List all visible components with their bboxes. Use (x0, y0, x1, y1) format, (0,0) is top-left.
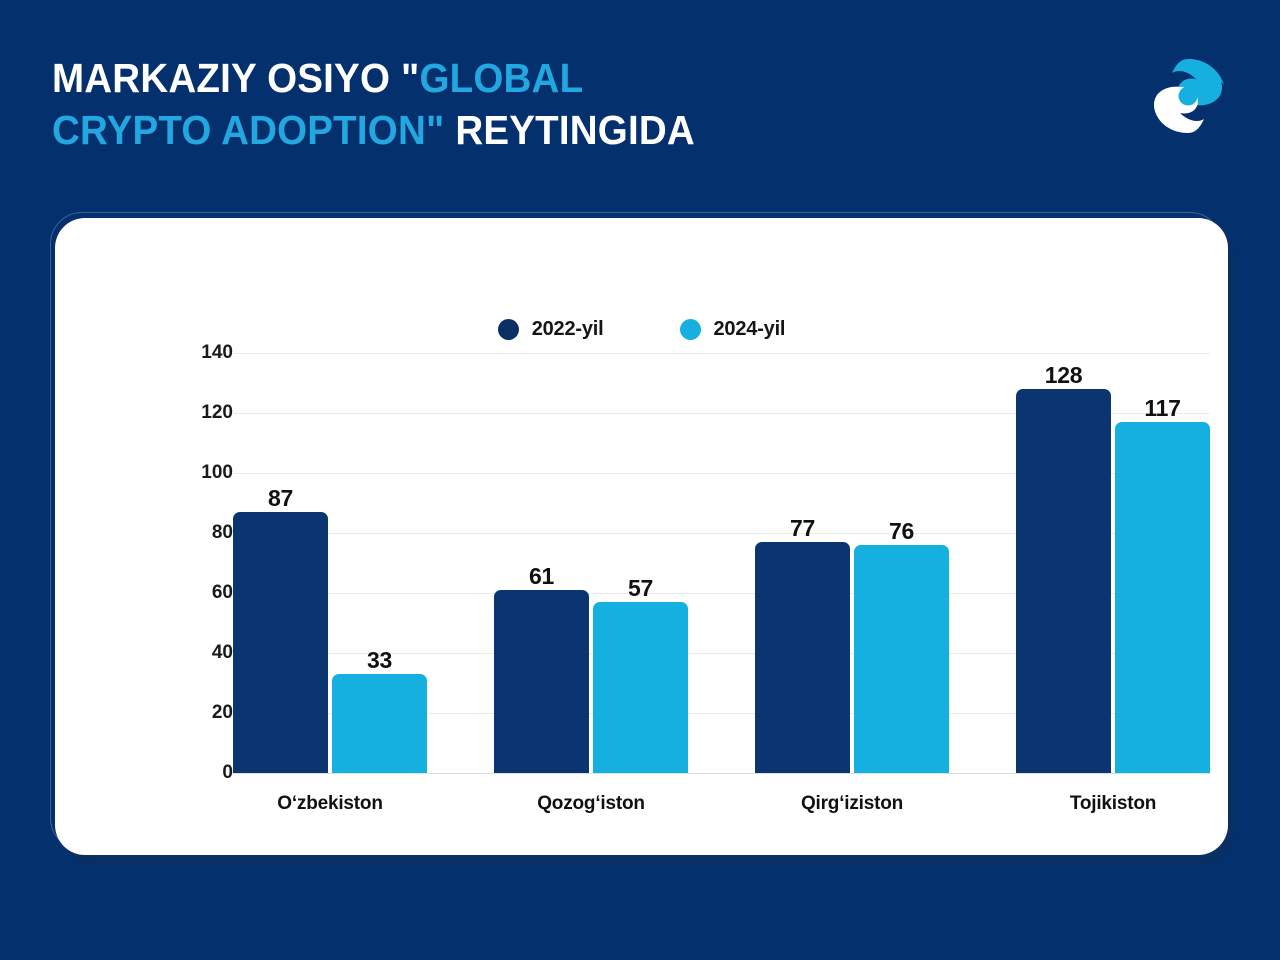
infographic-canvas: MARKAZIY OSIYO "GLOBAL CRYPTO ADOPTION" … (0, 0, 1280, 960)
eye-swirl-logo-icon (1148, 55, 1228, 137)
bar-group-uzbekistan: 87 33 (233, 353, 427, 773)
legend-label-2022: 2022-yil (532, 318, 604, 341)
legend-item-2024[interactable]: 2024-yil (680, 318, 786, 341)
bar-rect (1016, 389, 1111, 773)
page-title-line-2: CRYPTO ADOPTION" REYTINGIDA (52, 104, 898, 156)
bar-value-77: 77 (755, 515, 850, 542)
x-axis-labels: Oʻzbekiston Qozogʻiston Qirgʻiziston Toj… (233, 773, 1210, 815)
bar-value-117: 117 (1115, 395, 1210, 422)
chart-legend: 2022-yil 2024-yil (55, 318, 1228, 341)
x-label-kazakhstan: Qozogʻiston (494, 773, 688, 815)
x-label-kyrgyzstan: Qirgʻiziston (755, 773, 949, 815)
bar-tajikistan-2022[interactable]: 128 (1016, 353, 1111, 773)
y-axis: 140 120 100 80 60 40 20 0 (178, 353, 233, 773)
bar-uzbekistan-2022[interactable]: 87 (233, 353, 328, 773)
legend-label-2024: 2024-yil (714, 318, 786, 341)
page-title-segment-white-2: REYTINGIDA (444, 107, 694, 153)
bar-value-76: 76 (854, 518, 949, 545)
bar-value-33: 33 (332, 647, 427, 674)
bar-rect (755, 542, 850, 773)
y-tick-80: 80 (212, 522, 233, 544)
bar-value-57: 57 (593, 575, 688, 602)
page-title-quote-open: " (401, 55, 419, 101)
bar-group-tajikistan: 128 117 (1016, 353, 1210, 773)
y-tick-60: 60 (212, 582, 233, 604)
chart-bars: 87 33 61 57 (233, 353, 1210, 773)
legend-dot-2024-icon (680, 319, 701, 340)
bar-tajikistan-2024[interactable]: 117 (1115, 353, 1210, 773)
bar-value-128: 128 (1016, 362, 1111, 389)
bar-rect (494, 590, 589, 773)
legend-item-2022[interactable]: 2022-yil (498, 318, 604, 341)
y-tick-100: 100 (201, 462, 233, 484)
legend-dot-2022-icon (498, 319, 519, 340)
bar-kazakhstan-2022[interactable]: 61 (494, 353, 589, 773)
page-title-line-1: MARKAZIY OSIYO "GLOBAL (52, 52, 898, 104)
bar-rect (332, 674, 427, 773)
y-tick-0: 0 (222, 762, 233, 784)
page-title-segment-accent: GLOBAL (419, 55, 583, 101)
bar-value-61: 61 (494, 563, 589, 590)
bar-value-87: 87 (233, 485, 328, 512)
bar-kazakhstan-2024[interactable]: 57 (593, 353, 688, 773)
bar-rect (593, 602, 688, 773)
page-title-segment-accent-2: CRYPTO ADOPTION" (52, 107, 444, 153)
y-tick-120: 120 (201, 402, 233, 424)
x-label-tajikistan: Tojikiston (1016, 773, 1210, 815)
bar-rect (854, 545, 949, 773)
x-label-uzbekistan: Oʻzbekiston (233, 773, 427, 815)
page-title: MARKAZIY OSIYO "GLOBAL CRYPTO ADOPTION" … (52, 52, 952, 156)
bar-uzbekistan-2024[interactable]: 33 (332, 353, 427, 773)
y-tick-140: 140 (201, 342, 233, 364)
bar-kyrgyzstan-2024[interactable]: 76 (854, 353, 949, 773)
chart-card: 2022-yil 2024-yil 140 120 100 80 60 40 2… (55, 218, 1228, 855)
y-tick-20: 20 (212, 702, 233, 724)
bar-rect (233, 512, 328, 773)
bar-chart: 140 120 100 80 60 40 20 0 (178, 353, 1210, 773)
page-title-segment-white: MARKAZIY OSIYO (52, 55, 401, 101)
bar-kyrgyzstan-2022[interactable]: 77 (755, 353, 850, 773)
bar-group-kazakhstan: 61 57 (494, 353, 688, 773)
y-tick-40: 40 (212, 642, 233, 664)
bar-rect (1115, 422, 1210, 773)
bar-group-kyrgyzstan: 77 76 (755, 353, 949, 773)
